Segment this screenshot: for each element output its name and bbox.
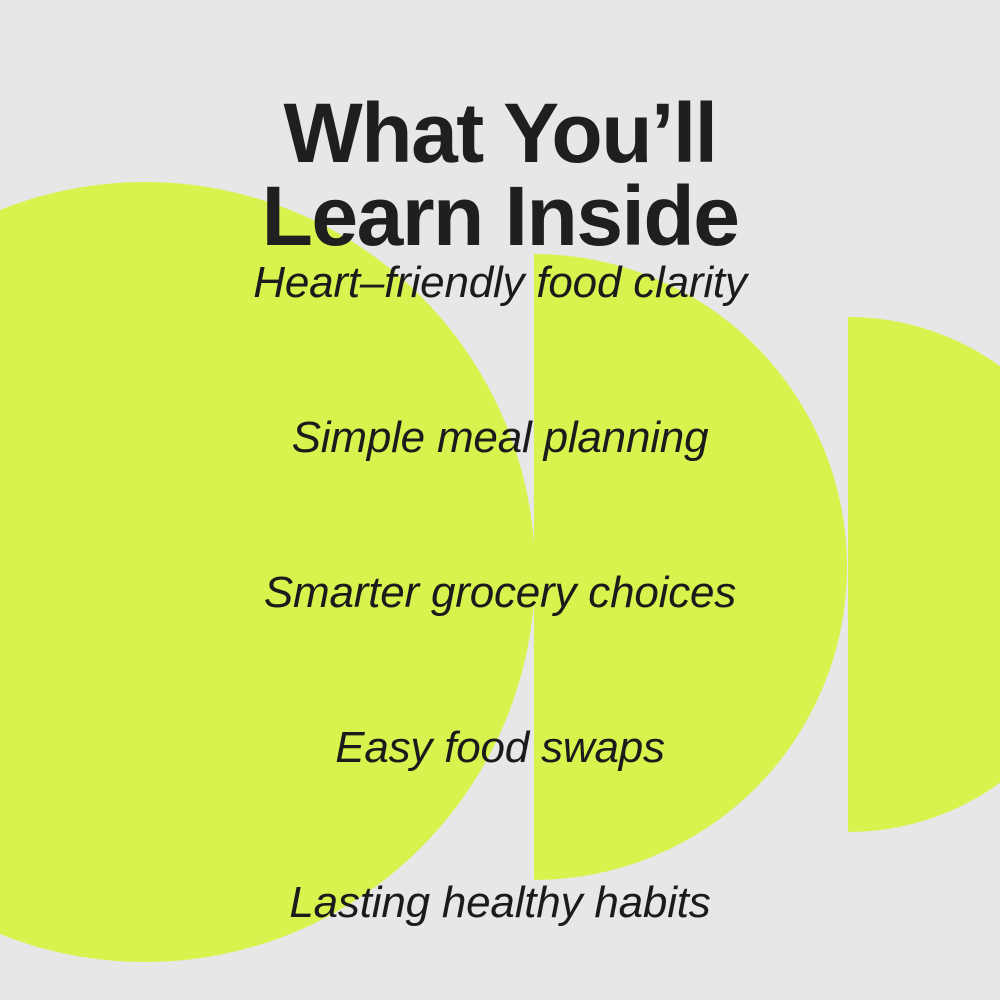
list-item: Smarter grocery choices	[0, 562, 1000, 717]
content-layer: What You’ll Learn Inside Heart–friendly …	[0, 0, 1000, 1000]
list-item: Simple meal planning	[0, 407, 1000, 562]
page-title-line-1: What You’ll	[0, 92, 1000, 174]
benefit-list: Heart–friendly food clarity Simple meal …	[0, 252, 1000, 1000]
poster-canvas: What You’ll Learn Inside Heart–friendly …	[0, 0, 1000, 1000]
page-title: What You’ll Learn Inside	[0, 92, 1000, 257]
list-item: Easy food swaps	[0, 717, 1000, 872]
page-title-line-2: Learn Inside	[0, 175, 1000, 257]
list-item: Lasting healthy habits	[0, 872, 1000, 1000]
list-item: Heart–friendly food clarity	[0, 252, 1000, 407]
